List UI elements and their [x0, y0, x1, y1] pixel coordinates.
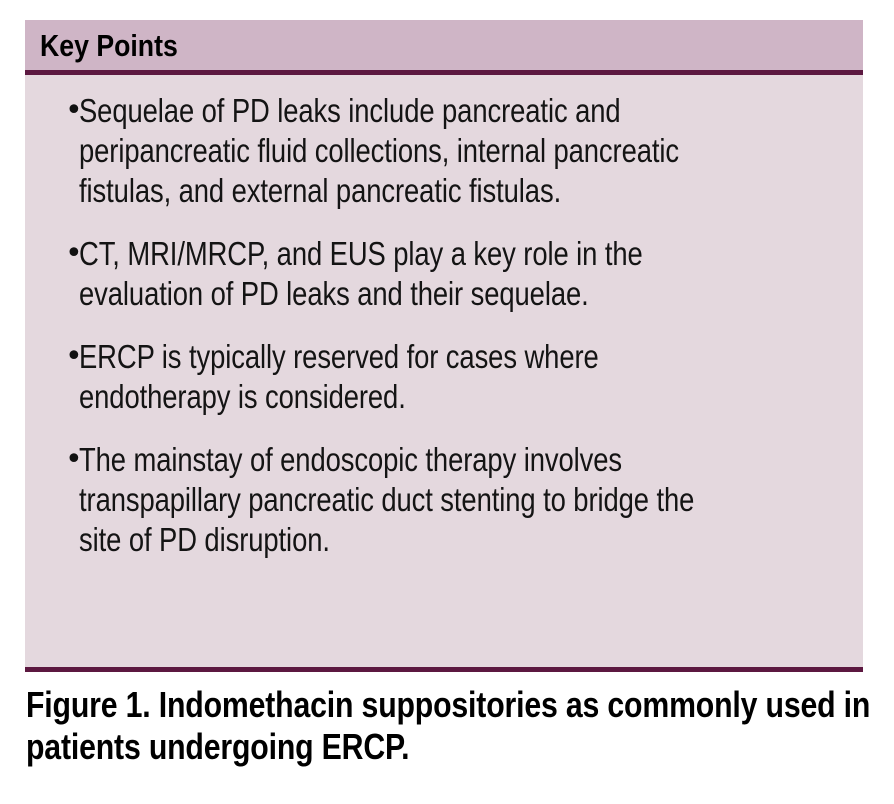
list-item: • The mainstay of endoscopic therapy inv… — [43, 440, 845, 560]
list-item: • Sequelae of PD leaks include pancreati… — [43, 91, 845, 211]
bullet-sequelae-text: Sequelae of PD leaks include pancreatic … — [79, 91, 715, 211]
key-points-body: • Sequelae of PD leaks include pancreati… — [25, 75, 863, 570]
figure-caption: Figure 1. Indomethacin suppositories as … — [26, 684, 894, 768]
list-item: • ERCP is typically reserved for cases w… — [43, 337, 845, 417]
list-item: • CT, MRI/MRCP, and EUS play a key role … — [43, 234, 845, 314]
bullet-point-icon: • — [43, 91, 79, 131]
key-points-header: Key Points — [25, 20, 863, 75]
bullet-point-icon: • — [43, 234, 79, 274]
bullet-ercp-text: ERCP is typically reserved for cases whe… — [79, 337, 715, 417]
page-canvas: Key Points • Sequelae of PD leaks includ… — [0, 0, 894, 804]
bullet-endoscopic-therapy-text: The mainstay of endoscopic therapy invol… — [79, 440, 715, 560]
bullet-imaging-text: CT, MRI/MRCP, and EUS play a key role in… — [79, 234, 715, 314]
bullet-point-icon: • — [43, 337, 79, 377]
page-title: Key Points — [40, 30, 178, 61]
bullet-point-icon: • — [43, 440, 79, 480]
key-points-panel: Key Points • Sequelae of PD leaks includ… — [25, 20, 863, 672]
